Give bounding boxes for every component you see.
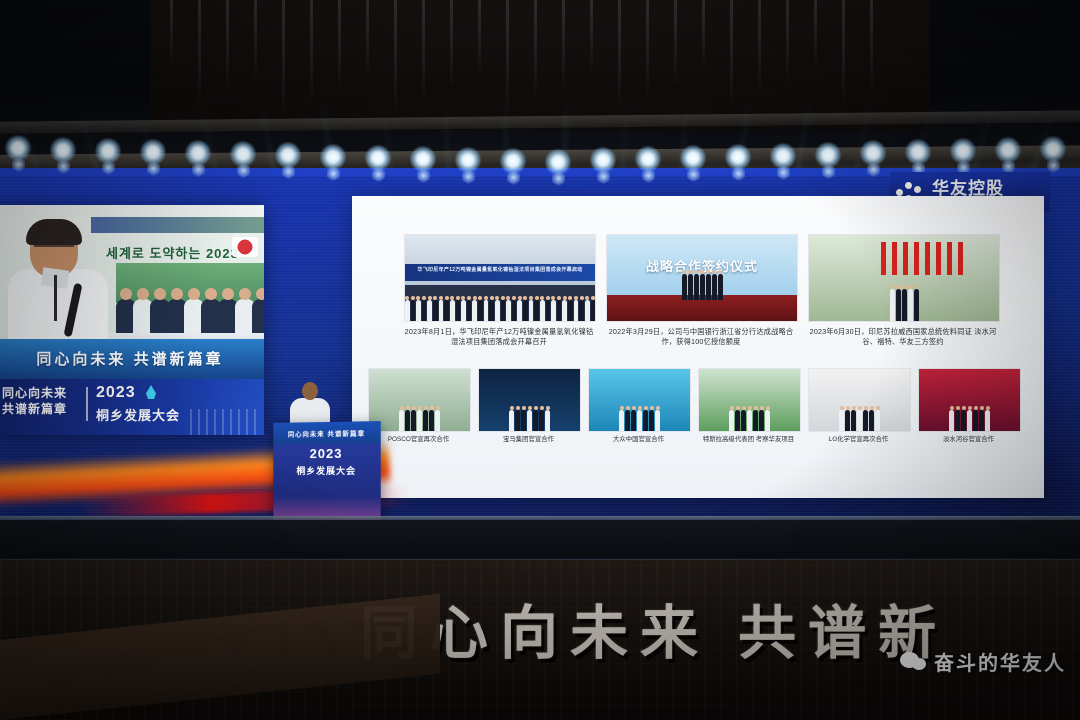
slide-photo-card-small: 大众中国官宣合作 xyxy=(588,368,689,445)
slide-photo-card-small: 淡水河谷官宣合作 xyxy=(918,368,1019,445)
photo-caption-small: 淡水河谷官宣合作 xyxy=(918,436,1019,445)
podium-slogan-band: 同心向未来 共谱新篇章 xyxy=(273,421,380,444)
left-screen-footer-bar: 同心向未来 共谱新篇章 2023 桐乡发展大会 xyxy=(0,379,264,435)
left-screen-title-bar xyxy=(91,217,264,233)
indonesia-state-ceremony xyxy=(808,234,1000,322)
photo-caption: 2023年6月30日，印尼苏拉威西国家总统佐料同证 淡水河谷、福特、华友三方签约 xyxy=(808,327,998,348)
podium-event-name: 桐乡发展大会 xyxy=(273,464,380,477)
wechat-watermark: 奋斗的华友人 xyxy=(900,647,1066,676)
photo-caption: 2023年8月1日，华飞印尼年产12万吨镍金属量氢氧化镍钴湿法项目集团落成会开幕… xyxy=(404,327,594,348)
vale-signing-photo xyxy=(918,368,1021,432)
stage-front-headline: 同心向未来 共谱新 xyxy=(360,586,948,670)
volkswagen-china-signing-photo xyxy=(588,368,691,432)
slide-photo-card: 2023年6月30日，印尼苏拉威西国家总统佐料同证 淡水河谷、福特、华友三方签约 xyxy=(808,234,998,348)
slide-content: 华飞印尼年产12万吨镍金属量氢氧化镍钴湿法项目集团落成会开幕启动2023年8月1… xyxy=(352,196,1044,498)
footer-slogan-line1: 同心向未来 xyxy=(2,385,67,401)
speaker-at-podium xyxy=(14,223,100,353)
footer-slogan-line2: 共谱新篇章 xyxy=(2,401,67,417)
photo-caption: 2022年3月29日，公司与中国银行浙江省分行达成战略合作，获得100亿授信额度 xyxy=(606,327,796,348)
wechat-account-name: 奋斗的华友人 xyxy=(934,647,1066,676)
slide-photo-card: 战略合作签约仪式2022年3月29日，公司与中国银行浙江省分行达成战略合作，获得… xyxy=(606,234,796,348)
left-screen-korean-text: 세계로 도약하는 2023 xyxy=(106,243,239,262)
logo-name-cn: 华友控股 xyxy=(932,180,1009,197)
slide-photo-card-small: LG化学官宣再次合作 xyxy=(808,368,909,445)
stage-podium: 同心向未来 共谱新篇章 2023 桐乡发展大会 xyxy=(273,421,380,523)
city-skyline-graphic xyxy=(190,409,260,435)
tesla-delegation-site-visit-photo xyxy=(698,368,801,432)
slide-bottom-photo-row: POSCO官宣再次合作宝马集团官宣合作大众中国官宣合作特斯拉高级代表团 考察华友… xyxy=(368,368,1028,445)
speaker-hair xyxy=(26,219,82,245)
lg-chem-signing-photo xyxy=(808,368,911,432)
photo-caption-small: 大众中国官宣合作 xyxy=(588,436,689,445)
main-presentation-screen: 华飞印尼年产12万吨镍金属量氢氧化镍钴湿法项目集团落成会开幕启动2023年8月1… xyxy=(352,196,1044,498)
posco-signing-photo xyxy=(368,368,471,432)
slide-photo-card-small: 特斯拉高级代表团 考察华友项目 xyxy=(698,368,799,445)
water-drop-icon xyxy=(146,385,156,399)
podium-year: 2023 xyxy=(273,446,380,462)
slide-top-photo-row: 华飞印尼年产12万吨镍金属量氢氧化镍钴湿法项目集团落成会开幕启动2023年8月1… xyxy=(404,234,1000,348)
slide-photo-card: 华飞印尼年产12万吨镍金属量氢氧化镍钴湿法项目集团落成会开幕启动2023年8月1… xyxy=(404,234,594,348)
group-photo-indonesia-nickel-project: 华飞印尼年产12万吨镍金属量氢氧化镍钴湿法项目集团落成会开幕启动 xyxy=(404,234,596,322)
footer-event-name: 桐乡发展大会 xyxy=(96,405,180,424)
ceiling-back-wall xyxy=(150,0,930,130)
bmw-group-signing-photo xyxy=(478,368,581,432)
footer-slogan: 同心向未来 共谱新篇章 xyxy=(2,385,67,417)
footer-divider xyxy=(86,387,88,421)
slide-photo-card-small: POSCO官宣再次合作 xyxy=(368,368,469,445)
slide-photo-card-small: 宝马集团官宣合作 xyxy=(478,368,579,445)
speaker-glasses xyxy=(34,245,74,256)
photo-caption-small: 特斯拉高级代表团 考察华友项目 xyxy=(698,436,799,445)
photo-caption-small: LG化学官宣再次合作 xyxy=(808,436,909,445)
speaker-lanyard xyxy=(54,275,57,321)
left-screen-slogan: 同心向未来 共谱新篇章 xyxy=(0,348,264,369)
conference-stage-photo: 华友控股 HUAYOU HOLDING 세계로 도약하는 2023 同心向未来 … xyxy=(0,0,1080,720)
left-projection-screen: 세계로 도약하는 2023 同心向未来 共谱新篇章 同心向未来 共谱新篇章 20… xyxy=(0,205,264,435)
footer-year: 2023 xyxy=(96,384,136,402)
on-stage-speaker-head xyxy=(302,382,318,400)
wechat-icon xyxy=(900,651,926,673)
podium-slogan-text: 同心向未来 共谱新篇章 xyxy=(288,427,365,438)
bank-of-china-signing-ceremony: 战略合作签约仪式 xyxy=(606,234,798,322)
japan-flag-graphic xyxy=(232,237,258,257)
left-screen-podium-band: 同心向未来 共谱新篇章 xyxy=(0,339,264,379)
photo-caption-small: 宝马集团官宣合作 xyxy=(478,436,579,445)
